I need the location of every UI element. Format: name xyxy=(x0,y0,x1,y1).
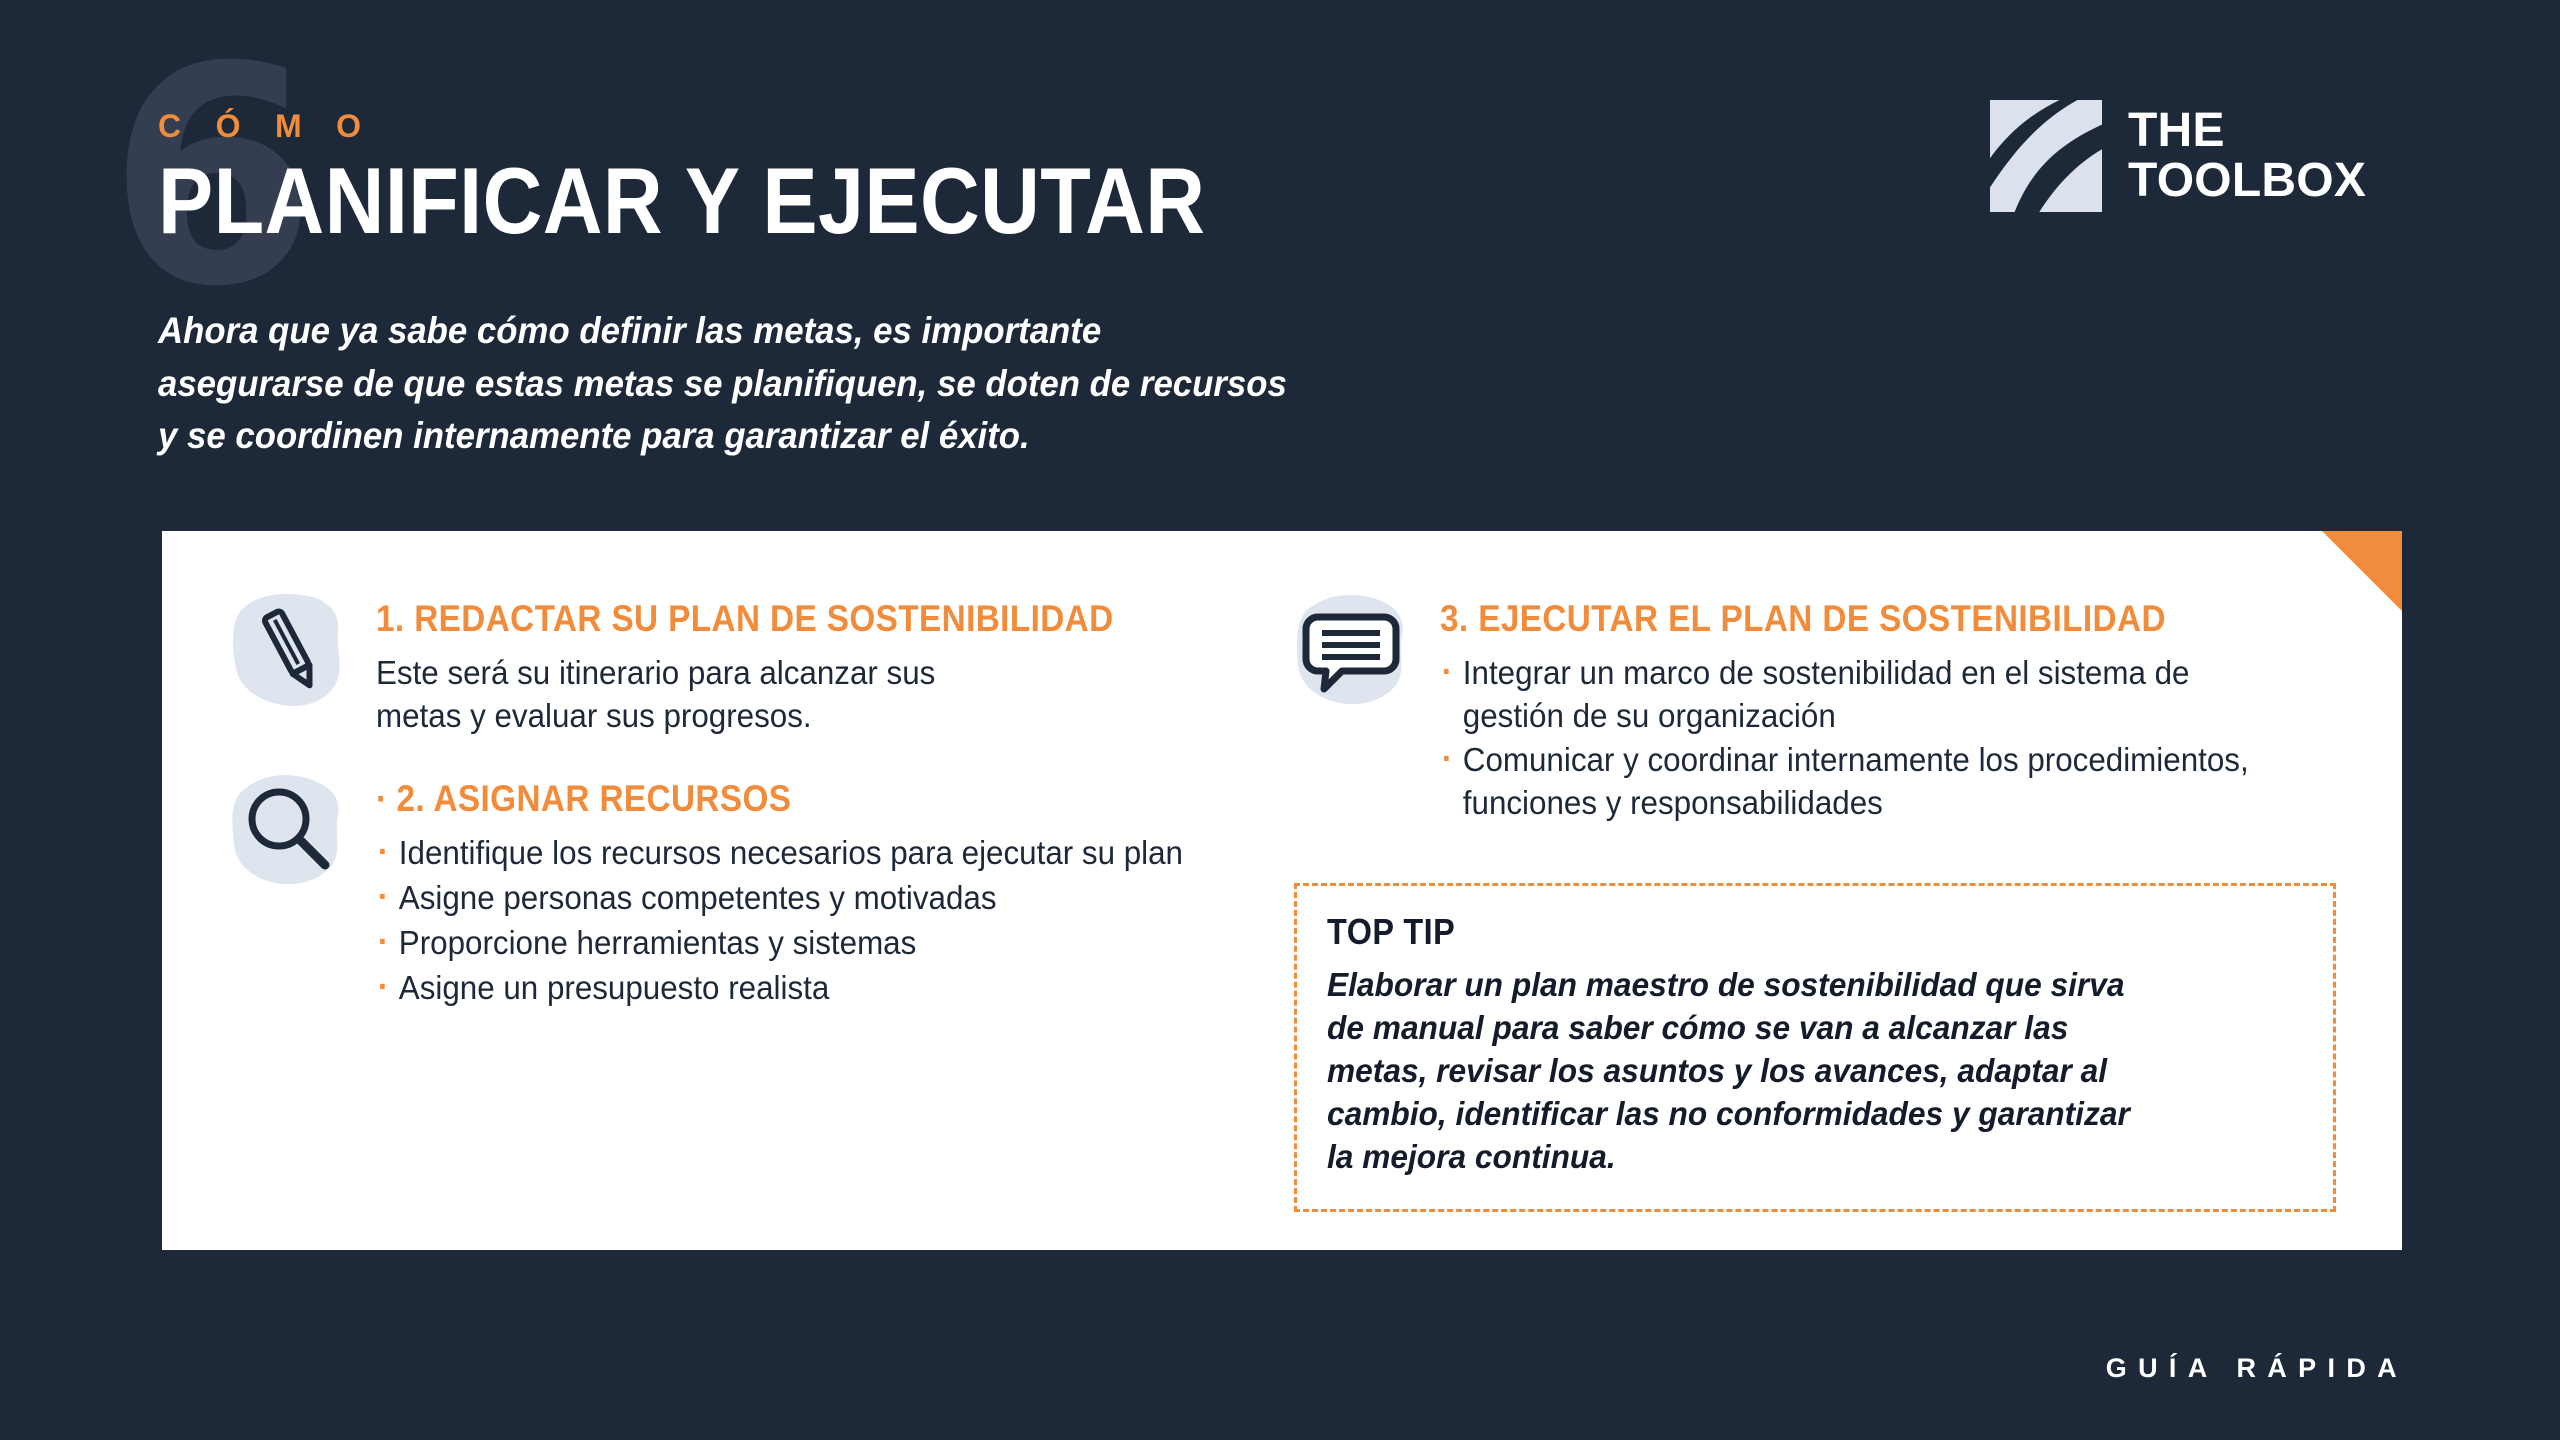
logo-line-1: THE xyxy=(2128,106,2366,156)
body-line: metas y evaluar sus progresos. xyxy=(376,695,1214,738)
list-item: Asigne un presupuesto realista xyxy=(376,967,1214,1010)
list-item: Identifique los recursos necesarios para… xyxy=(376,832,1214,875)
list-item: Proporcione herramientas y sistemas xyxy=(376,922,1214,965)
subtitle-line: Ahora que ya sabe cómo definir las metas… xyxy=(158,305,1568,358)
top-tip-line: cambio, identificar las no conformidades… xyxy=(1327,1093,2264,1136)
speech-bubble-icon xyxy=(1288,587,1418,717)
footer-label: GUÍA RÁPIDA xyxy=(2106,1353,2408,1384)
subtitle-line: y se coordinen internamente para garanti… xyxy=(158,410,1568,463)
logo-line-2: TOOLBOX xyxy=(2128,156,2366,206)
page-header: C Ó M O PLANIFICAR Y EJECUTAR xyxy=(158,110,1348,246)
top-tip-box: TOP TIP Elaborar un plan maestro de sost… xyxy=(1294,883,2336,1211)
content-card: 1. REDACTAR SU PLAN DE SOSTENIBILIDAD Es… xyxy=(162,531,2402,1250)
magnifier-icon xyxy=(224,767,354,897)
toolbox-logo-icon xyxy=(1990,100,2102,212)
body-line: Este será su itinerario para alcanzar su… xyxy=(376,652,1214,695)
section-bullets: Identifique los recursos necesarios para… xyxy=(376,832,1258,1010)
brand-logo: THE TOOLBOX xyxy=(1990,100,2366,212)
section-ejecutar-plan: 3. EJECUTAR EL PLAN DE SOSTENIBILIDAD In… xyxy=(1288,599,2342,825)
top-tip-line: de manual para saber cómo se van a alcan… xyxy=(1327,1007,2264,1050)
top-tip-line: metas, revisar los asuntos y los avances… xyxy=(1327,1050,2264,1093)
section-redactar-plan: 1. REDACTAR SU PLAN DE SOSTENIBILIDAD Es… xyxy=(224,599,1258,737)
page-subtitle: Ahora que ya sabe cómo definir las metas… xyxy=(158,305,1568,463)
list-item: Integrar un marco de sostenibilidad en e… xyxy=(1440,652,2297,738)
section-title: 2. ASIGNAR RECURSOS xyxy=(376,779,1170,820)
list-item: Comunicar y coordinar internamente los p… xyxy=(1440,739,2297,825)
top-tip-body: Elaborar un plan maestro de sostenibilid… xyxy=(1327,964,2264,1178)
pencil-icon xyxy=(224,587,354,717)
list-item: Asigne personas competentes y motivadas xyxy=(376,877,1214,920)
top-tip-line: Elaborar un plan maestro de sostenibilid… xyxy=(1327,964,2264,1007)
section-body: Este será su itinerario para alcanzar su… xyxy=(376,652,1214,738)
eyebrow-label: C Ó M O xyxy=(158,110,1348,142)
logo-wordmark: THE TOOLBOX xyxy=(2128,106,2366,206)
subtitle-line: asegurarse de que estas metas se planifi… xyxy=(158,358,1568,411)
top-tip-line: la mejora continua. xyxy=(1327,1136,2264,1179)
section-title: 1. REDACTAR SU PLAN DE SOSTENIBILIDAD xyxy=(376,599,1170,640)
section-asignar-recursos: 2. ASIGNAR RECURSOS Identifique los recu… xyxy=(224,779,1258,1009)
left-column: 1. REDACTAR SU PLAN DE SOSTENIBILIDAD Es… xyxy=(224,599,1258,1250)
page-title: PLANIFICAR Y EJECUTAR xyxy=(158,156,1205,246)
right-column: 3. EJECUTAR EL PLAN DE SOSTENIBILIDAD In… xyxy=(1288,599,2342,1250)
section-bullets: Integrar un marco de sostenibilidad en e… xyxy=(1440,652,2342,826)
section-title: 3. EJECUTAR EL PLAN DE SOSTENIBILIDAD xyxy=(1440,599,2252,640)
top-tip-title: TOP TIP xyxy=(1327,914,2205,950)
